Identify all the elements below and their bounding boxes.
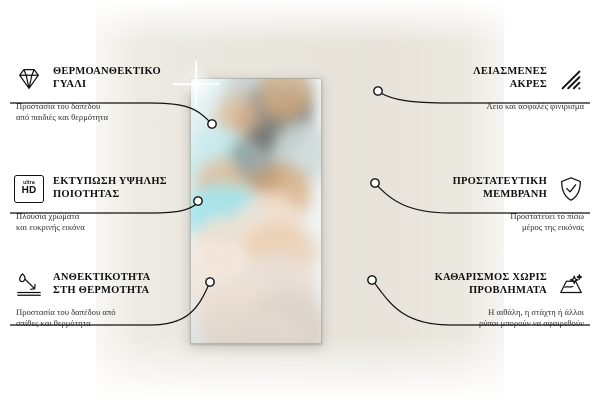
feature-heading: ΛΕΙΑΣΜΕΝΕΣ ΑΚΡΕΣ [410,64,586,94]
feature-description: Η αιθάλη, η στάχτη ή άλλοι ρύποι μπορούν… [410,307,586,329]
feature-heat-resistant-glass: ΘΕΡΜΟΑΝΘΕΚΤΙΚΟ ΓΥΑΛΙ Προστασία του δαπέδ… [14,64,190,123]
product-feature-infographic: ΘΕΡΜΟΑΝΘΕΚΤΙΚΟ ΓΥΑΛΙ Προστασία του δαπέδ… [0,0,600,400]
feature-heading: ultra HD ΕΚΤΥΠΩΣΗ ΥΨΗΛΗΣ ΠΟΙΟΤΗΤΑΣ [14,174,190,204]
background-fade-bottom [0,336,600,400]
feature-heading: ΠΡΟΣΤΑΤΕΥΤΙΚΗ ΜΕΜΒΡΑΝΗ [410,174,586,204]
feature-title: ΘΕΡΜΟΑΝΘΕΚΤΙΚΟ ΓΥΑΛΙ [53,66,161,91]
glass-panel-edge [190,78,322,344]
background-fade-top [0,0,600,44]
ultra-hd-hd-label: HD [22,186,37,197]
feature-title: ΑΝΘΕΚΤΙΚΟΤΗΤΑ ΣΤΗ ΘΕΡΜΟΤΗΤΑ [53,272,150,297]
feature-description: Προστασία του δαπέδου από σπίθες και θερ… [14,307,190,329]
ultra-hd-icon: ultra HD [14,175,44,203]
shield-check-icon [556,175,586,203]
feature-high-quality-print: ultra HD ΕΚΤΥΠΩΣΗ ΥΨΗΛΗΣ ΠΟΙΟΤΗΤΑΣ Πλούσ… [14,174,190,233]
feature-protective-membrane: ΠΡΟΣΤΑΤΕΥΤΙΚΗ ΜΕΜΒΡΑΝΗ Προστατεύει το πί… [410,174,586,233]
feature-easy-cleaning: ΚΑΘΑΡΙΣΜΟΣ ΧΩΡΙΣ ΠΡΟΒΛΗΜΑΤΑ Η αιθάλη, η … [410,270,586,329]
feature-description: Πλούσια χρώματα και ευκρινής εικόνα [14,211,190,233]
feature-heading: ΑΝΘΕΚΤΙΚΟΤΗΤΑ ΣΤΗ ΘΕΡΜΟΤΗΤΑ [14,270,190,300]
feature-heat-resistance: ΑΝΘΕΚΤΙΚΟΤΗΤΑ ΣΤΗ ΘΕΡΜΟΤΗΤΑ Προστασία το… [14,270,190,329]
diamond-icon [14,65,44,93]
polished-edges-icon [556,65,586,93]
easy-clean-icon [556,271,586,299]
feature-title: ΠΡΟΣΤΑΤΕΥΤΙΚΗ ΜΕΜΒΡΑΝΗ [453,176,547,201]
feature-heading: ΚΑΘΑΡΙΣΜΟΣ ΧΩΡΙΣ ΠΡΟΒΛΗΜΑΤΑ [410,270,586,300]
feature-description: Προστατεύει το πίσω μέρος της εικόνας [410,211,586,233]
feature-title: ΕΚΤΥΠΩΣΗ ΥΨΗΛΗΣ ΠΟΙΟΤΗΤΑΣ [53,176,167,201]
feature-polished-edges: ΛΕΙΑΣΜΕΝΕΣ ΑΚΡΕΣ Λείο και ασφαλές φινίρι… [410,64,586,112]
glass-panel-artwork [190,78,322,344]
feature-title: ΚΑΘΑΡΙΣΜΟΣ ΧΩΡΙΣ ΠΡΟΒΛΗΜΑΤΑ [435,272,547,297]
feature-description: Λείο και ασφαλές φινίρισμα [410,101,586,112]
feature-description: Προστασία του δαπέδου από παιδιές και θε… [14,101,190,123]
heat-resistance-icon [14,271,44,299]
feature-heading: ΘΕΡΜΟΑΝΘΕΚΤΙΚΟ ΓΥΑΛΙ [14,64,190,94]
feature-title: ΛΕΙΑΣΜΕΝΕΣ ΑΚΡΕΣ [473,66,547,91]
